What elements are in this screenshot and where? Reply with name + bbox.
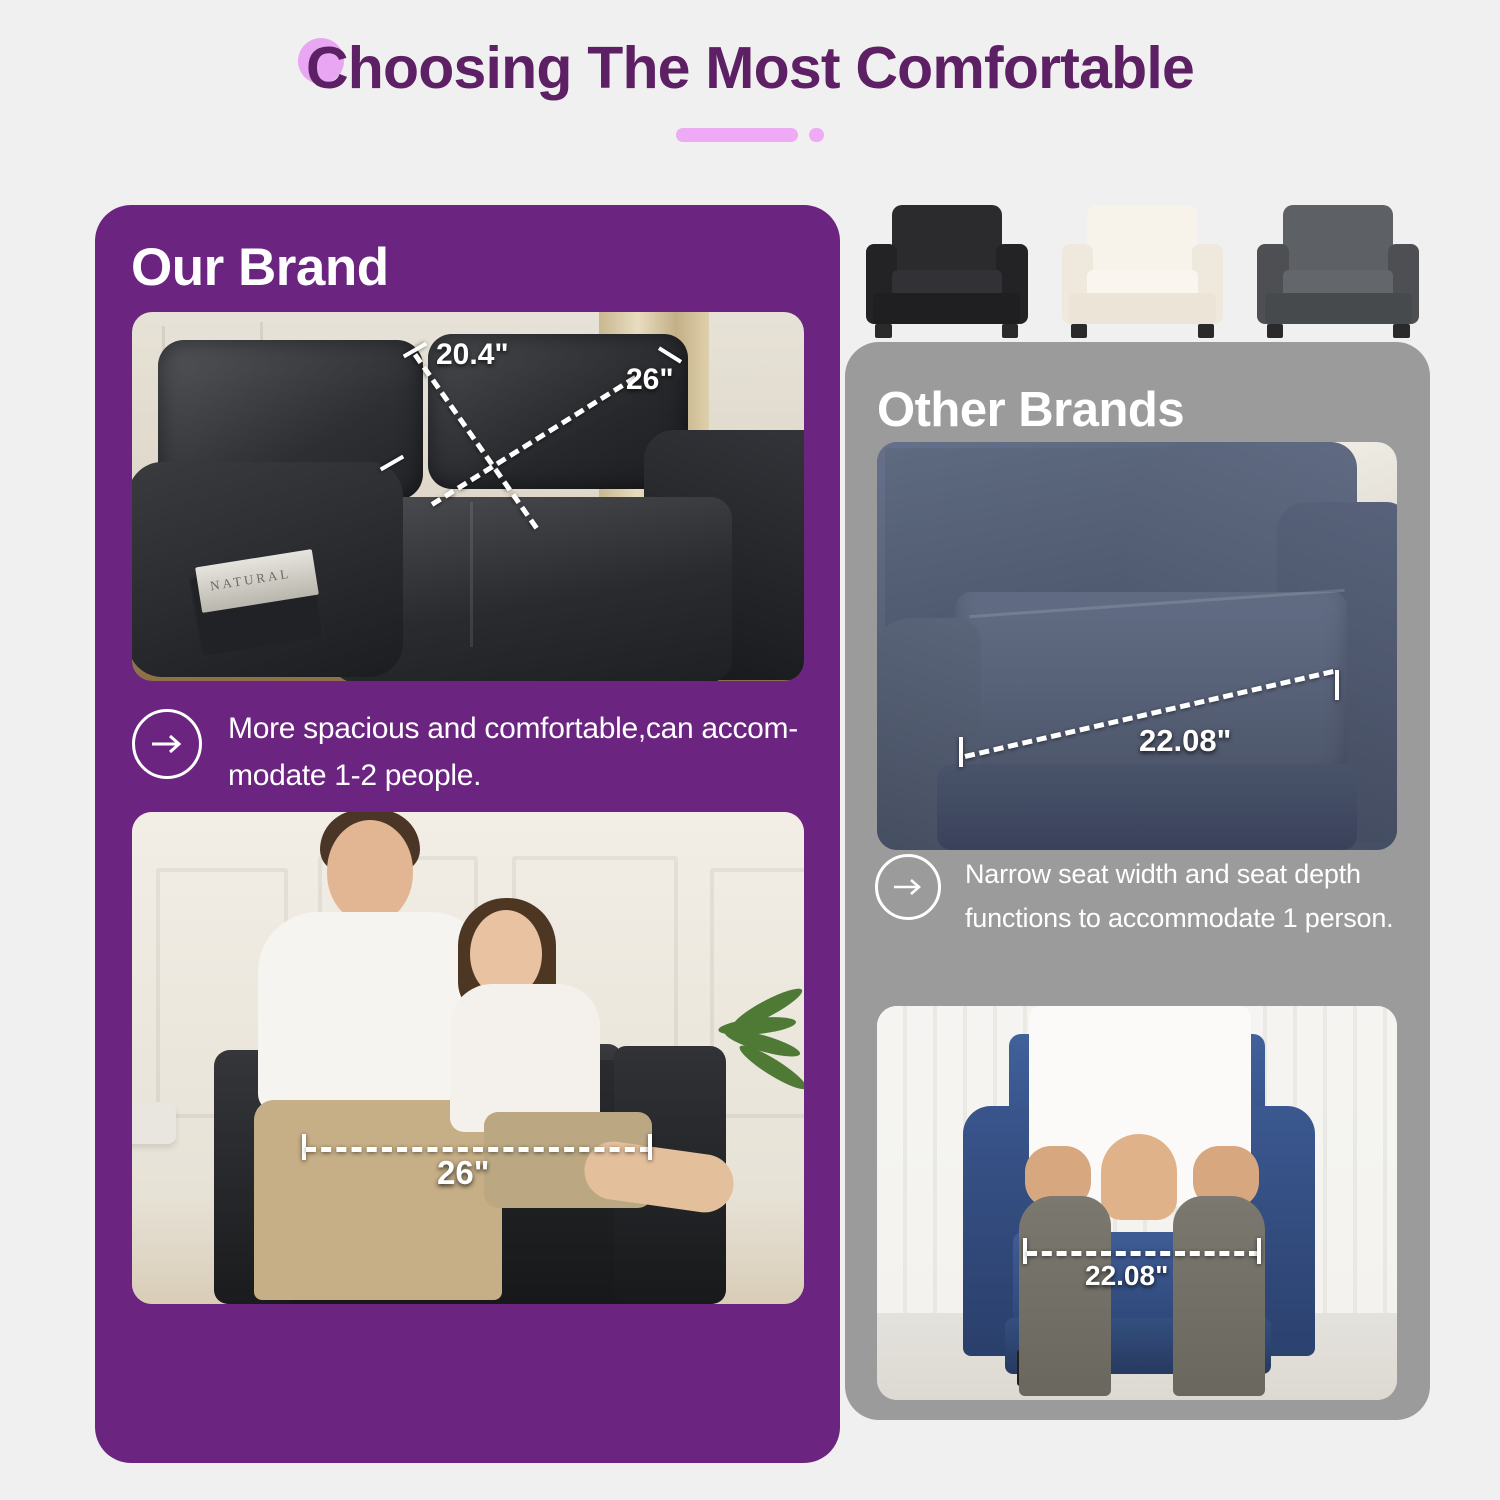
girl-torso [450,984,600,1132]
other-brands-seat-photo: 22.08" [877,442,1397,850]
other-brands-caption-text: Narrow seat width and seat depth functio… [965,852,1405,940]
man-head [327,820,413,924]
thumb-backrest [892,205,1002,273]
side-table [132,1102,176,1144]
our-brand-panel: Our Brand NATURAL 20.4" [95,205,840,1463]
thumb-leg [1393,324,1410,338]
dim-label-depth: 20.4" [436,338,509,372]
thumb-leg [1198,324,1215,338]
our-brand-caption-text: More spacious and comfortable,can accom-… [228,705,804,799]
dim-cap-end [1335,670,1339,700]
thumb-base [1069,293,1216,324]
other-brands-panel: Other Brands 22.08" [845,342,1430,1420]
thumb-leg [1002,324,1019,338]
arrow-right-circle-icon [875,854,941,920]
thumb-base [873,293,1020,324]
our-brand-title: Our Brand [131,237,389,298]
thumbnail-black-armchair[interactable] [855,196,1039,338]
thumb-base [1265,293,1412,324]
dim-line-width [306,1147,650,1152]
color-variant-thumbnails [855,196,1430,338]
chair-base [937,764,1357,850]
arrow-right-circle-icon [132,709,202,779]
infographic-page: Choosing The Most Comfortable Our Brand [0,0,1500,1500]
other-brands-title: Other Brands [877,382,1184,438]
our-brand-lifestyle-photo: 26" [132,812,804,1304]
thumbnail-cream-armchair[interactable] [1051,196,1235,338]
seat-seam [470,502,473,647]
thumb-backrest [1087,205,1197,273]
page-title-wrap: Choosing The Most Comfortable [0,30,1500,110]
other-brands-caption-row: Narrow seat width and seat depth functio… [875,852,1405,940]
magazine-label: NATURAL [209,566,292,595]
divider-dot [809,128,824,142]
our-brand-seat-photo: NATURAL 20.4" 26" [132,312,804,681]
dim-cap-start [959,737,963,767]
dim-label-depth: 22.08" [1139,723,1231,759]
thumbnail-dark-gray-armchair[interactable] [1246,196,1430,338]
dim-cap-end [648,1134,652,1160]
dim-label-width: 26" [437,1154,489,1192]
man-thigh-left [1019,1196,1111,1396]
man-hands [1101,1134,1177,1220]
chair-seat-cushion [955,592,1347,792]
dim-label-width: 22.08" [1085,1260,1168,1292]
dim-line-width [1027,1251,1259,1256]
divider-bar [676,128,798,142]
dim-cap-end [1257,1238,1261,1264]
thumb-backrest [1283,205,1393,273]
thumb-leg [1267,324,1284,338]
thumb-leg [875,324,892,338]
title-divider [0,128,1500,150]
man-thigh-right [1173,1196,1265,1396]
page-title: Choosing The Most Comfortable [306,35,1194,101]
thumb-leg [1071,324,1088,338]
our-brand-caption-row: More spacious and comfortable,can accom-… [132,705,804,799]
dim-label-width: 26" [626,363,674,397]
other-brands-lifestyle-photo: 22.08" [877,1006,1397,1400]
header: Choosing The Most Comfortable [0,0,1500,190]
